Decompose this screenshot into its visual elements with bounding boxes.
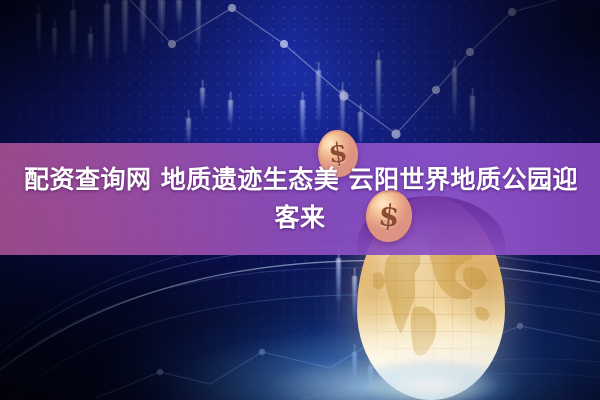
- vignette: [0, 0, 600, 400]
- image-canvas: $ $ 配资查询网 地质遗迹生态美 云阳世界地质公园迎 客来: [0, 0, 600, 400]
